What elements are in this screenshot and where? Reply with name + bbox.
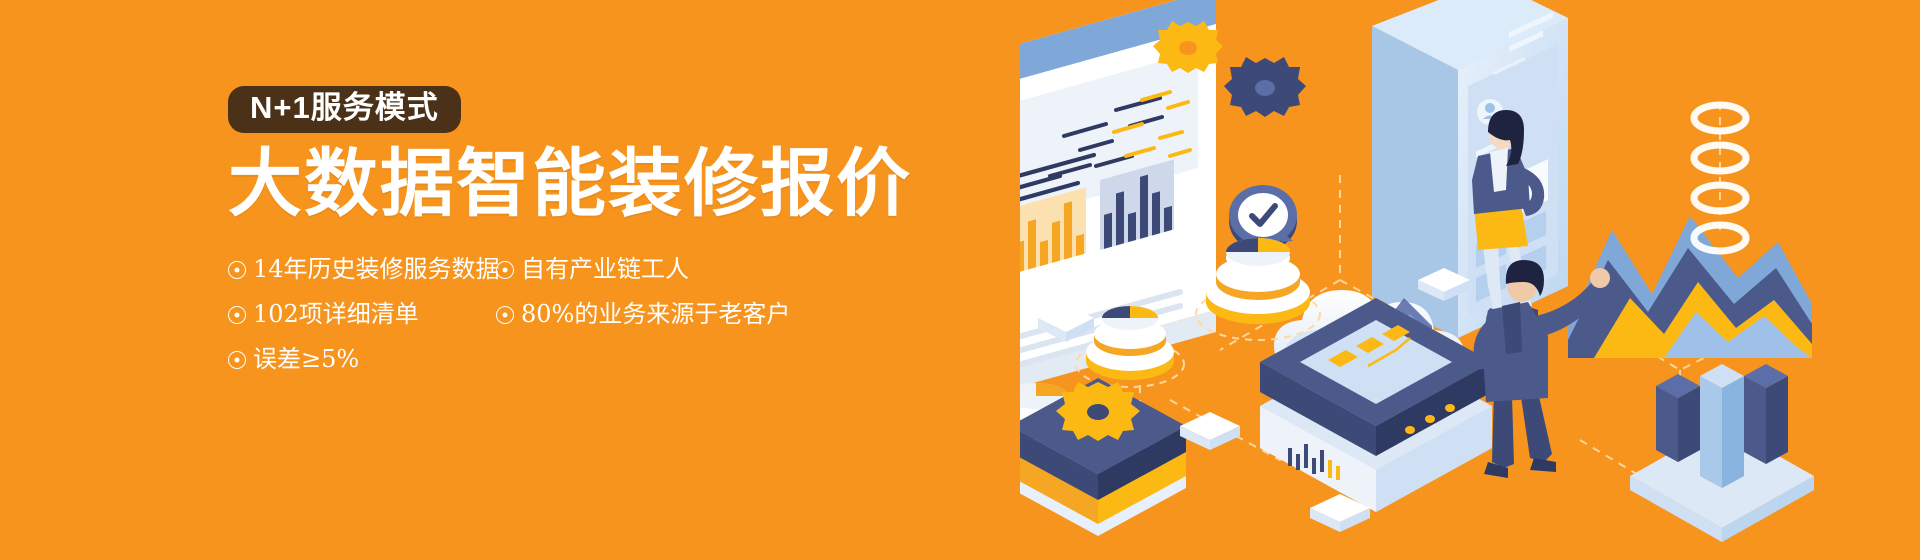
service-mode-badge: N+1服务模式 <box>228 86 461 133</box>
feature-label: 误差≥5% <box>253 345 359 374</box>
feature-item-5: 误差≥5% <box>228 345 496 374</box>
mountain-area-chart <box>1568 216 1812 358</box>
feature-item-2: 自有产业链工人 <box>496 255 826 284</box>
circled-dot-icon <box>496 261 514 279</box>
circled-dot-icon <box>228 306 246 324</box>
circled-dot-icon <box>496 306 514 324</box>
circled-dot-icon <box>228 351 246 369</box>
feature-label: 102项详细清单 <box>253 300 419 329</box>
list-item: 14年历史装修服务数据 自有产业链工人 <box>228 255 888 284</box>
feature-label: 80%的业务来源于老客户 <box>521 300 790 329</box>
feature-list: 14年历史装修服务数据 自有产业链工人 102项详细清单 80%的业务来源于老客… <box>228 255 888 373</box>
page-title: 大数据智能装修报价 <box>228 147 968 221</box>
feature-item-4: 80%的业务来源于老客户 <box>496 300 826 329</box>
feature-item-3: 102项详细清单 <box>228 300 496 329</box>
gear-icon-navy <box>1224 57 1306 117</box>
feature-label: 自有产业链工人 <box>521 255 689 284</box>
list-item: 误差≥5% <box>228 345 888 374</box>
floating-tile <box>1180 412 1240 450</box>
feature-label: 14年历史装修服务数据 <box>253 255 500 284</box>
bar-chart-columns <box>1630 364 1814 542</box>
isometric-illustration <box>1020 0 1920 560</box>
copy-block: N+1服务模式 大数据智能装修报价 14年历史装修服务数据 自有产业链工人 10… <box>228 86 968 389</box>
list-item: 102项详细清单 80%的业务来源于老客户 <box>228 300 888 329</box>
circled-dot-icon <box>228 261 246 279</box>
promo-banner: N+1服务模式 大数据智能装修报价 14年历史装修服务数据 自有产业链工人 10… <box>0 0 1920 560</box>
feature-item-1: 14年历史装修服务数据 <box>228 255 496 284</box>
